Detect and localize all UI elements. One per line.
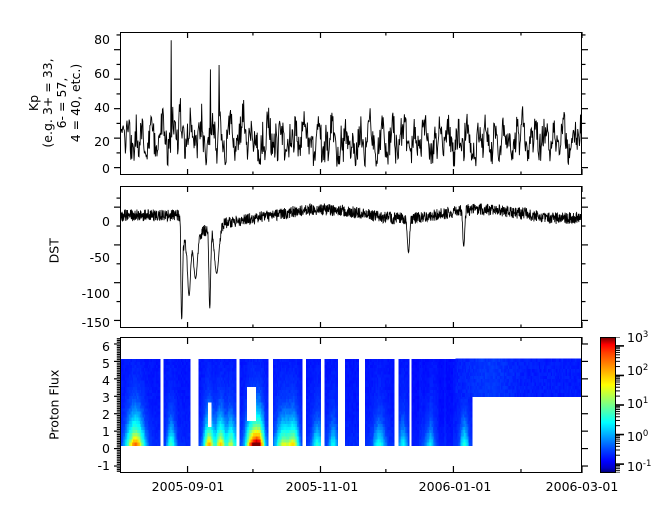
cb-exp: 0 [643, 429, 648, 439]
colorbar-tickmarks [616, 337, 625, 473]
cb-mantissa: 10 [627, 396, 643, 411]
cb-mantissa: 10 [627, 330, 643, 345]
pf-ytick-0: 0 [80, 441, 110, 456]
cb-mantissa: 10 [627, 459, 643, 474]
kp-ytick-80: 80 [78, 32, 110, 47]
cb-exp: 3 [643, 330, 648, 340]
dst-ytick-0: 0 [70, 214, 110, 229]
dst-ytick-m50: -50 [70, 250, 110, 265]
kp-label-line-3: 6- = 57, [55, 28, 69, 178]
cb-exp: -1 [643, 459, 651, 469]
pf-ytick-4: 4 [80, 373, 110, 388]
xtick-2005-11-01: 2005-11-01 [262, 479, 382, 494]
kp-ytick-0: 0 [78, 161, 110, 176]
kp-timeseries-trace [121, 33, 581, 174]
kp-ytick-60: 60 [78, 66, 110, 81]
colorbar-label-0.1: 10-1 [627, 459, 651, 474]
dst-timeseries-trace [121, 187, 581, 327]
xtick-2006-03-01: 2006-03-01 [522, 479, 642, 494]
dst-ytick-m150: -150 [70, 315, 110, 330]
cb-exp: 2 [643, 363, 648, 373]
pf-ytick-1: 1 [80, 424, 110, 439]
colorbar-label-1000: 103 [627, 330, 648, 345]
kp-axis-label: Kp (e.g. 3+ = 33, 6- = 57, 4 = 40, etc.) [27, 28, 83, 178]
xtick-2005-09-01: 2005-09-01 [128, 479, 248, 494]
dst-plot-panel [120, 186, 582, 328]
colorbar-jet [600, 337, 616, 473]
colorbar-label-100: 102 [627, 363, 648, 378]
cb-mantissa: 10 [627, 363, 643, 378]
space-weather-figure: Kp (e.g. 3+ = 33, 6- = 57, 4 = 40, etc.)… [0, 0, 665, 523]
pf-ytick-m1: -1 [80, 458, 110, 473]
proton-flux-panel [120, 337, 582, 473]
pf-ytick-5: 5 [80, 356, 110, 371]
proton-flux-axis-label: Proton Flux [47, 335, 61, 475]
colorbar-label-10: 101 [627, 396, 648, 411]
colorbar-label-1: 100 [627, 429, 648, 444]
kp-label-line-2: (e.g. 3+ = 33, [41, 28, 55, 178]
kp-plot-panel [120, 32, 582, 175]
pf-ytick-2: 2 [80, 407, 110, 422]
dst-axis-label: DST [47, 191, 61, 311]
cb-exp: 1 [643, 396, 648, 406]
kp-ytick-20: 20 [78, 134, 110, 149]
dst-ytick-m100: -100 [70, 286, 110, 301]
kp-label-line-1: Kp [27, 28, 41, 178]
proton-flux-spectrogram [121, 338, 581, 472]
pf-ytick-3: 3 [80, 390, 110, 405]
pf-ytick-6: 6 [80, 339, 110, 354]
xtick-2006-01-01: 2006-01-01 [395, 479, 515, 494]
cb-mantissa: 10 [627, 429, 643, 444]
kp-ytick-40: 40 [78, 100, 110, 115]
